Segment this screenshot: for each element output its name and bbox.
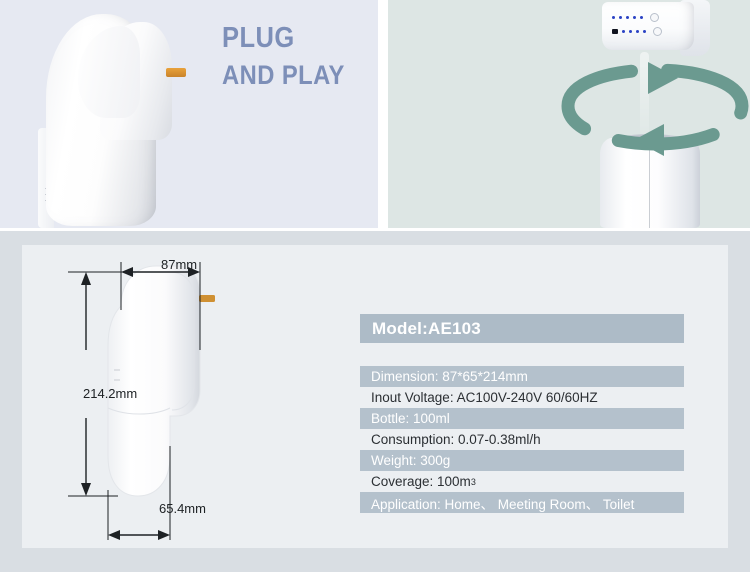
- feature-panels-row: PLUG AND PLAY: [0, 0, 750, 228]
- specification-table: Model:AE103 Dimension: 87*65*214mmInout …: [360, 314, 684, 513]
- spec-row: Weight: 300g: [360, 450, 684, 471]
- spec-row: Consumption: 0.07-0.38ml/h: [360, 429, 684, 450]
- spec-row-list: Dimension: 87*65*214mmInout Voltage: AC1…: [360, 366, 684, 513]
- dimension-arrow-height: [81, 272, 91, 496]
- spec-row: Inout Voltage: AC100V-240V 60/60HZ: [360, 387, 684, 408]
- rotation-arrows-icon: [560, 62, 750, 166]
- spec-row: Application: Home、 Meeting Room、 Toilet: [360, 492, 684, 513]
- led-indicator-row-top: [612, 14, 659, 20]
- dimension-label-height: 214.2mm: [83, 386, 137, 401]
- panel-convenient-refill: CONVENIENT TO ADD REFILL: [388, 0, 750, 228]
- mode-button-top[interactable]: [650, 13, 659, 22]
- dimension-label-width-top: 87mm: [161, 257, 197, 272]
- plug-pin: [166, 68, 186, 77]
- diffuser-top-cap: [602, 2, 694, 50]
- spec-row: Bottle: 100ml: [360, 408, 684, 429]
- dimension-label-width-bottom: 65.4mm: [159, 501, 206, 516]
- spec-row: Dimension: 87*65*214mm: [360, 366, 684, 387]
- led-indicator-row-bottom: [612, 28, 662, 34]
- dimension-product-silhouette: [108, 266, 215, 496]
- product-spec-page: PLUG AND PLAY: [0, 0, 750, 579]
- dimension-arrow-width-bottom: [108, 530, 170, 540]
- panel-left-headline: PLUG AND PLAY: [222, 24, 345, 89]
- diffuser-side-view-image: [18, 6, 198, 228]
- spec-row: Coverage: 100m3: [360, 471, 684, 492]
- panel-plug-and-play: PLUG AND PLAY: [0, 0, 378, 228]
- spec-model-header: Model:AE103: [360, 314, 684, 343]
- headline-left-line1: PLUG: [222, 22, 295, 54]
- refill-bottle-image: [538, 0, 750, 228]
- headline-left-line2: AND PLAY: [222, 62, 345, 89]
- mode-button-bottom[interactable]: [653, 27, 662, 36]
